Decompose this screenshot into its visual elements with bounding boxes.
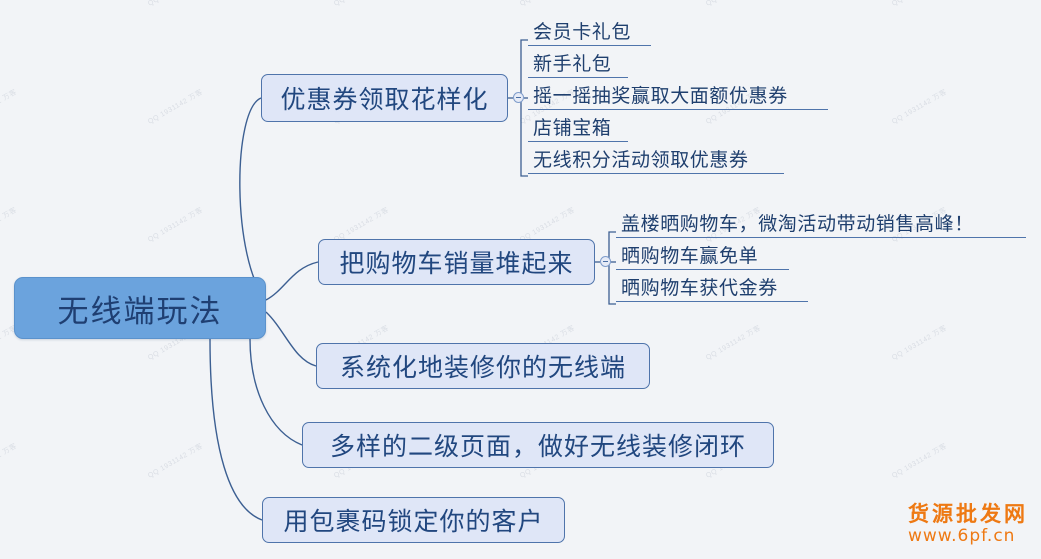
faint-watermark: QQ 1931142 万客 xyxy=(332,0,391,9)
faint-watermark: QQ 1931142 万客 xyxy=(704,0,763,9)
leaf-node[interactable]: 盖楼晒购物车，微淘活动带动销售高峰！ xyxy=(616,208,1026,238)
link-root-to-decoration xyxy=(266,312,316,366)
branch-node-parcel[interactable]: 用包裹码锁定你的客户 xyxy=(262,497,565,543)
faint-watermark: QQ 1931142 万客 xyxy=(518,0,577,9)
faint-watermark: QQ 1931142 万客 xyxy=(0,0,19,9)
branch-node-coupons[interactable]: 优惠券领取花样化 xyxy=(261,74,508,122)
faint-watermark: QQ 1931142 万客 xyxy=(146,87,205,127)
site-watermark: 货源批发网 www.6pf.cn xyxy=(908,503,1028,546)
link-root-to-cart xyxy=(266,262,318,300)
faint-watermark: QQ 1931142 万客 xyxy=(890,441,949,481)
faint-watermark: QQ 1931142 万客 xyxy=(146,0,205,9)
leaf-node[interactable]: 晒购物车赢免单 xyxy=(616,240,789,270)
branch-node-subpage[interactable]: 多样的二级页面，做好无线装修闭环 xyxy=(302,422,774,468)
faint-watermark: QQ 1931142 万客 xyxy=(890,87,949,127)
faint-watermark: QQ 1931142 万客 xyxy=(0,205,19,245)
branch-node-cart[interactable]: 把购物车销量堆起来 xyxy=(318,239,595,285)
collapse-toggle-coupons[interactable] xyxy=(513,92,524,103)
leaf-node[interactable]: 会员卡礼包 xyxy=(528,16,651,46)
link-root-to-subpage xyxy=(250,339,302,445)
link-root-to-coupons xyxy=(240,98,266,300)
leaf-node[interactable]: 店铺宝箱 xyxy=(528,112,628,142)
root-node[interactable]: 无线端玩法 xyxy=(14,277,266,339)
faint-watermark: QQ 1931142 万客 xyxy=(704,323,763,363)
site-watermark-name: 货源批发网 xyxy=(908,503,1028,526)
mindmap-canvas: QQ 1931142 万客QQ 1931142 万客QQ 1931142 万客Q… xyxy=(0,0,1041,559)
leaf-node[interactable]: 晒购物车获代金券 xyxy=(616,272,808,302)
link-root-to-parcel xyxy=(210,339,262,520)
faint-watermark: QQ 1931142 万客 xyxy=(146,441,205,481)
branch-node-decoration[interactable]: 系统化地装修你的无线端 xyxy=(316,343,650,389)
faint-watermark: QQ 1931142 万客 xyxy=(0,441,19,481)
faint-watermark: QQ 1931142 万客 xyxy=(0,87,19,127)
faint-watermark: QQ 1931142 万客 xyxy=(890,323,949,363)
collapse-toggle-cart[interactable] xyxy=(600,256,611,267)
bracket-coupons xyxy=(521,40,528,176)
faint-watermark: QQ 1931142 万客 xyxy=(890,0,949,9)
site-watermark-url: www.6pf.cn xyxy=(908,526,1028,546)
leaf-node[interactable]: 无线积分活动领取优惠券 xyxy=(528,144,784,174)
leaf-node[interactable]: 新手礼包 xyxy=(528,48,628,78)
faint-watermark: QQ 1931142 万客 xyxy=(146,205,205,245)
bracket-cart xyxy=(609,232,616,304)
leaf-node[interactable]: 摇一摇抽奖赢取大面额优惠券 xyxy=(528,80,828,110)
